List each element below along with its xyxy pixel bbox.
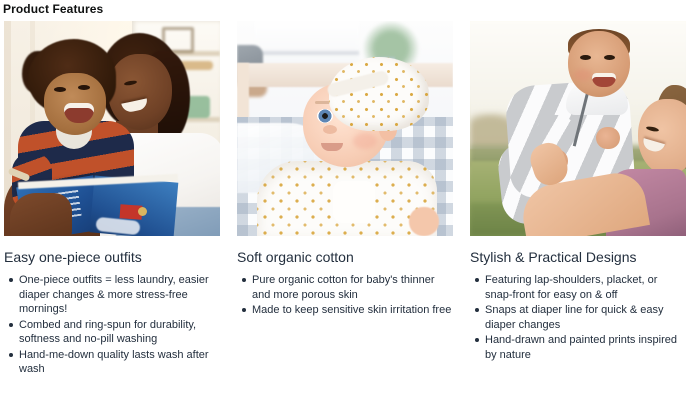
baby-hand bbox=[409, 207, 439, 236]
baby-hand-right bbox=[596, 127, 620, 149]
toddler-eye-right bbox=[78, 85, 90, 90]
feature-column-1: Easy one-piece outfits One-piece outfits… bbox=[4, 21, 220, 378]
feature-heading-1: Easy one-piece outfits bbox=[4, 248, 220, 266]
product-features-section: Product Features bbox=[0, 0, 699, 403]
feature-image-mother-lifting-baby bbox=[470, 21, 686, 236]
list-item: Hand-me-down quality lasts wash after wa… bbox=[19, 348, 220, 377]
baby-eye-right bbox=[604, 55, 615, 60]
feature-column-3: Stylish & Practical Designs Featuring la… bbox=[470, 21, 686, 378]
feature-bullet-list-1: One-piece outfits = less laundry, easier… bbox=[4, 273, 220, 377]
feature-heading-3: Stylish & Practical Designs bbox=[470, 248, 686, 266]
baby-nose bbox=[323, 125, 337, 134]
list-item: Pure organic cotton for baby's thinner a… bbox=[252, 273, 453, 302]
list-item: Hand-drawn and painted prints inspired b… bbox=[485, 333, 686, 362]
feature-column-2: Soft organic cotton Pure organic cotton … bbox=[237, 21, 453, 378]
baby-cheek bbox=[574, 69, 592, 81]
baby-cheek bbox=[353, 133, 377, 149]
baby-eye-left bbox=[580, 55, 591, 60]
mother-ring bbox=[138, 207, 147, 216]
list-item: One-piece outfits = less laundry, easier… bbox=[19, 273, 220, 317]
feature-bullet-list-3: Featuring lap-shoulders, placket, or sna… bbox=[470, 273, 686, 362]
toddler-eye-left bbox=[54, 87, 66, 92]
baby-eye-left bbox=[317, 109, 333, 123]
mother-face bbox=[108, 54, 172, 130]
baby-head bbox=[568, 31, 630, 97]
list-item: Made to keep sensitive skin irritation f… bbox=[252, 303, 453, 318]
list-item: Snaps at diaper line for quick & easy di… bbox=[485, 303, 686, 332]
feature-image-mother-and-toddler-reading bbox=[4, 21, 220, 236]
baby-outfit-front-panel bbox=[333, 181, 375, 223]
feature-bullet-list-2: Pure organic cotton for baby's thinner a… bbox=[237, 273, 453, 318]
crib-post bbox=[237, 63, 249, 119]
feature-heading-2: Soft organic cotton bbox=[237, 248, 453, 266]
list-item: Combed and ring-spun for durability, sof… bbox=[19, 318, 220, 347]
feature-image-baby-in-crib bbox=[237, 21, 453, 236]
page-title: Product Features bbox=[3, 1, 103, 17]
window-frame-bar bbox=[255, 51, 359, 55]
feature-columns: Easy one-piece outfits One-piece outfits… bbox=[4, 21, 692, 378]
mother-hand bbox=[10, 193, 72, 236]
list-item: Featuring lap-shoulders, placket, or sna… bbox=[485, 273, 686, 302]
